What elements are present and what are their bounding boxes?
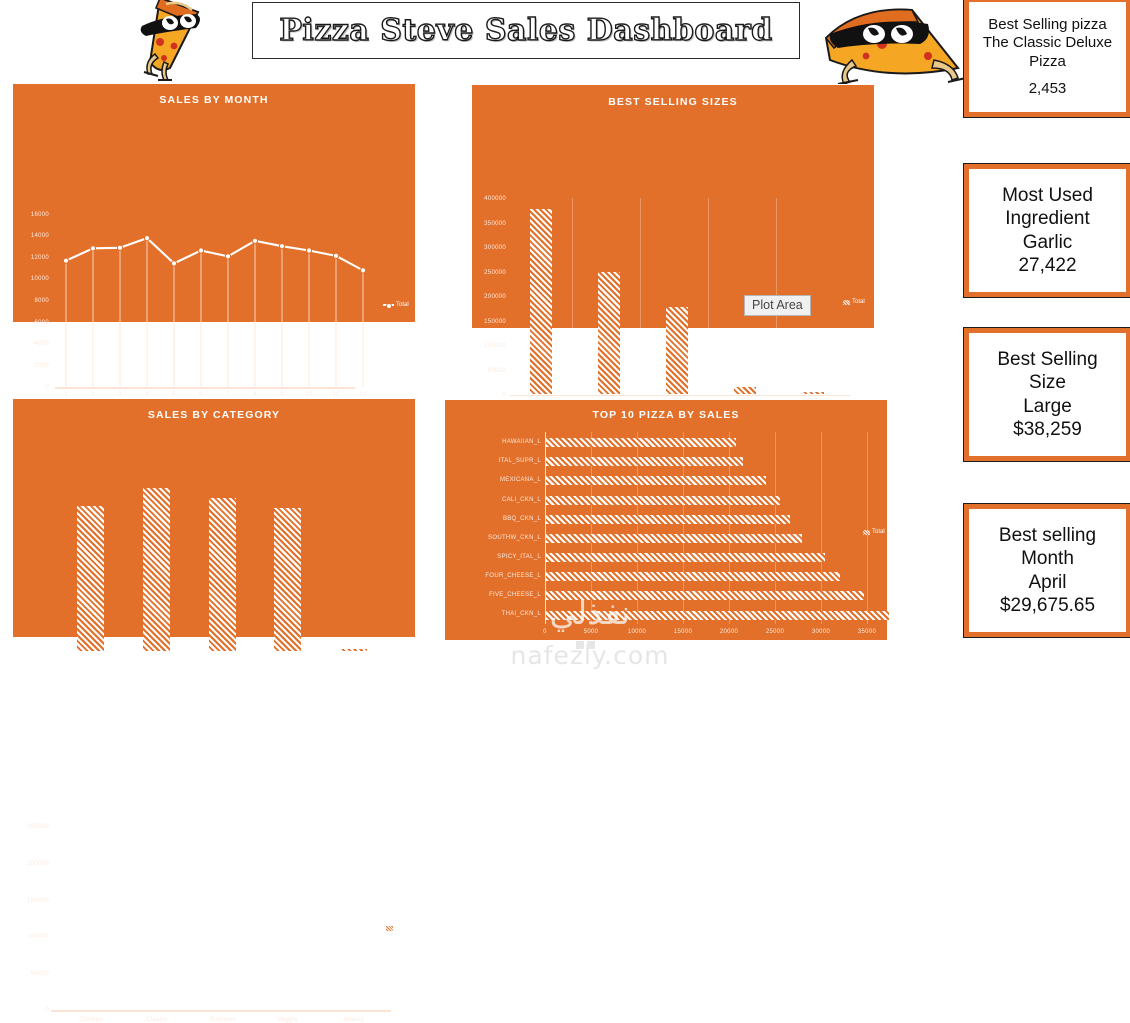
legend-marker: [863, 530, 870, 535]
gridline: [640, 198, 641, 395]
watermark-latin: nafezly.com: [480, 643, 700, 668]
legend-marker: [383, 304, 394, 306]
chart-legend[interactable]: Total: [863, 529, 885, 535]
plot-area-tooltip: Plot Area: [744, 295, 811, 316]
y-tick: THAI_CKN_L: [455, 611, 541, 617]
chart-legend[interactable]: Total: [383, 302, 409, 308]
bar[interactable]: [77, 506, 104, 651]
bar[interactable]: [734, 387, 756, 394]
kpi-label: Pizza: [1029, 53, 1066, 71]
y-tick: 250000: [13, 824, 49, 830]
chart-legend[interactable]: Total: [386, 925, 408, 931]
bar[interactable]: [546, 515, 790, 524]
kpi-label: Most Used: [1002, 184, 1093, 207]
x-tick: 35000: [853, 629, 881, 635]
chart-sales-by-category[interactable]: SALES BY CATEGORY 250000 200000 150000 1…: [12, 398, 416, 638]
y-tick: SOUTHW_CKN_L: [455, 535, 541, 541]
bar[interactable]: [546, 496, 780, 505]
bar[interactable]: [143, 488, 170, 651]
legend-label: Total: [395, 925, 408, 931]
chart-best-selling-sizes[interactable]: BEST SELLING SIZES 400000 350000 300000 …: [471, 84, 875, 329]
bar[interactable]: [546, 457, 743, 466]
x-tick: Veggie: [264, 1017, 312, 1023]
y-tick: MEXICANA_L: [455, 477, 541, 483]
kpi-label: Size: [1029, 371, 1066, 394]
y-tick: 2000: [17, 363, 49, 369]
y-tick: 400000: [472, 196, 506, 202]
chart-title: TOP 10 PIZZA BY SALES: [445, 409, 887, 421]
kpi-label: Month: [1021, 547, 1074, 570]
bar[interactable]: [546, 476, 766, 485]
page-title: Pizza Steve Sales Dashboard: [279, 13, 772, 48]
x-tick: 15000: [669, 629, 697, 635]
legend-marker: [386, 926, 393, 931]
y-tick: 300000: [472, 245, 506, 251]
y-tick: HAWAIIAN_L: [455, 439, 541, 445]
kpi-label: The Classic Deluxe: [983, 34, 1112, 52]
y-tick: 0: [472, 392, 506, 398]
bar[interactable]: [546, 611, 889, 620]
y-tick: 4000: [17, 341, 49, 347]
legend-label: Total: [872, 529, 885, 535]
dashboard-title-banner: Pizza Steve Sales Dashboard: [252, 2, 800, 59]
kpi-label: Best Selling pizza: [988, 16, 1106, 34]
kpi-label: Best Selling: [997, 348, 1097, 371]
bar[interactable]: [340, 649, 367, 651]
bar[interactable]: [802, 392, 824, 394]
bar[interactable]: [598, 272, 620, 394]
kpi-label: Best selling: [999, 524, 1096, 547]
bar[interactable]: [546, 572, 840, 581]
kpi-card-best-selling-size[interactable]: Best Selling Size Large $38,259: [963, 327, 1130, 462]
kpi-card-best-selling-pizza[interactable]: Best Selling pizza The Classic Deluxe Pi…: [963, 0, 1130, 118]
y-tick: 150000: [13, 898, 49, 904]
y-tick: SPICY_ITAL_L: [455, 554, 541, 560]
chart-top-10-pizza-by-sales[interactable]: TOP 10 PIZZA BY SALES HAWAIIAN_L ITAL_SU…: [444, 399, 888, 641]
kpi-card-best-selling-month[interactable]: Best selling Month April $29,675.65: [963, 503, 1130, 638]
x-tick: 5000: [577, 629, 605, 635]
x-axis-line: [55, 387, 355, 389]
kpi-value: 2,453: [1029, 80, 1067, 98]
legend-marker: [843, 300, 850, 305]
y-tick: 100000: [472, 343, 506, 349]
bar[interactable]: [546, 438, 736, 447]
pizza-mascot-icon: [808, 0, 976, 90]
x-tick: 0: [531, 629, 559, 635]
bar[interactable]: [530, 209, 552, 394]
kpi-label: Garlic: [1023, 231, 1073, 254]
bar[interactable]: [274, 508, 301, 651]
kpi-value: $29,675.65: [1000, 594, 1095, 617]
y-tick: 100000: [13, 934, 49, 940]
x-tick: Chicken: [67, 1017, 115, 1023]
x-tick: 30000: [807, 629, 835, 635]
kpi-label: Ingredient: [1005, 207, 1090, 230]
y-tick: CALI_CKN_L: [455, 497, 541, 503]
x-tick: 25000: [761, 629, 789, 635]
chart-title: SALES BY CATEGORY: [13, 409, 415, 421]
kpi-value: 27,422: [1018, 254, 1076, 277]
y-tick: 0: [17, 384, 49, 390]
kpi-label: April: [1028, 571, 1066, 594]
gridline: [867, 432, 868, 624]
gridline: [572, 198, 573, 395]
kpi-label: Large: [1023, 395, 1072, 418]
chart-title: BEST SELLING SIZES: [472, 96, 874, 108]
bar[interactable]: [546, 553, 825, 562]
bar[interactable]: [666, 307, 688, 394]
y-tick: ITAL_SUPR_L: [455, 458, 541, 464]
legend-label: Total: [852, 299, 865, 305]
y-tick: 50000: [13, 971, 49, 977]
chart-sales-by-month[interactable]: SALES BY MONTH 16000 14000 12000 10000 8…: [12, 83, 416, 323]
dashboard-header: Pizza Steve Sales Dashboard: [0, 0, 970, 82]
y-tick: FIVE_CHEESE_L: [455, 592, 541, 598]
gridline: [708, 198, 709, 395]
kpi-card-most-used-ingredient[interactable]: Most Used Ingredient Garlic 27,422: [963, 163, 1130, 298]
y-tick: BBQ_CKN_L: [455, 516, 541, 522]
chart-legend[interactable]: Total: [843, 299, 865, 305]
x-tick: 20000: [715, 629, 743, 635]
bar[interactable]: [546, 591, 864, 600]
y-tick: 50000: [472, 368, 506, 374]
y-tick: 200000: [472, 294, 506, 300]
x-tick: Classic: [133, 1017, 181, 1023]
y-tick: 350000: [472, 221, 506, 227]
x-axis-line: [51, 1010, 391, 1012]
line-series-total: [13, 84, 417, 324]
x-tick: (blank): [330, 1017, 378, 1023]
pizza-mascot-icon: [100, 0, 230, 82]
y-tick: 200000: [13, 861, 49, 867]
x-tick: 10000: [623, 629, 651, 635]
bar[interactable]: [209, 498, 236, 651]
y-tick: FOUR_CHEESE_L: [455, 573, 541, 579]
kpi-value: $38,259: [1013, 418, 1082, 441]
y-tick: 250000: [472, 270, 506, 276]
x-axis-line: [510, 395, 850, 396]
legend-label: Total: [396, 302, 409, 308]
y-tick: 0: [13, 1007, 49, 1013]
bar[interactable]: [546, 534, 802, 543]
x-tick: Supreme: [199, 1017, 247, 1023]
watermark-dots: [576, 641, 595, 649]
y-tick: 150000: [472, 319, 506, 325]
